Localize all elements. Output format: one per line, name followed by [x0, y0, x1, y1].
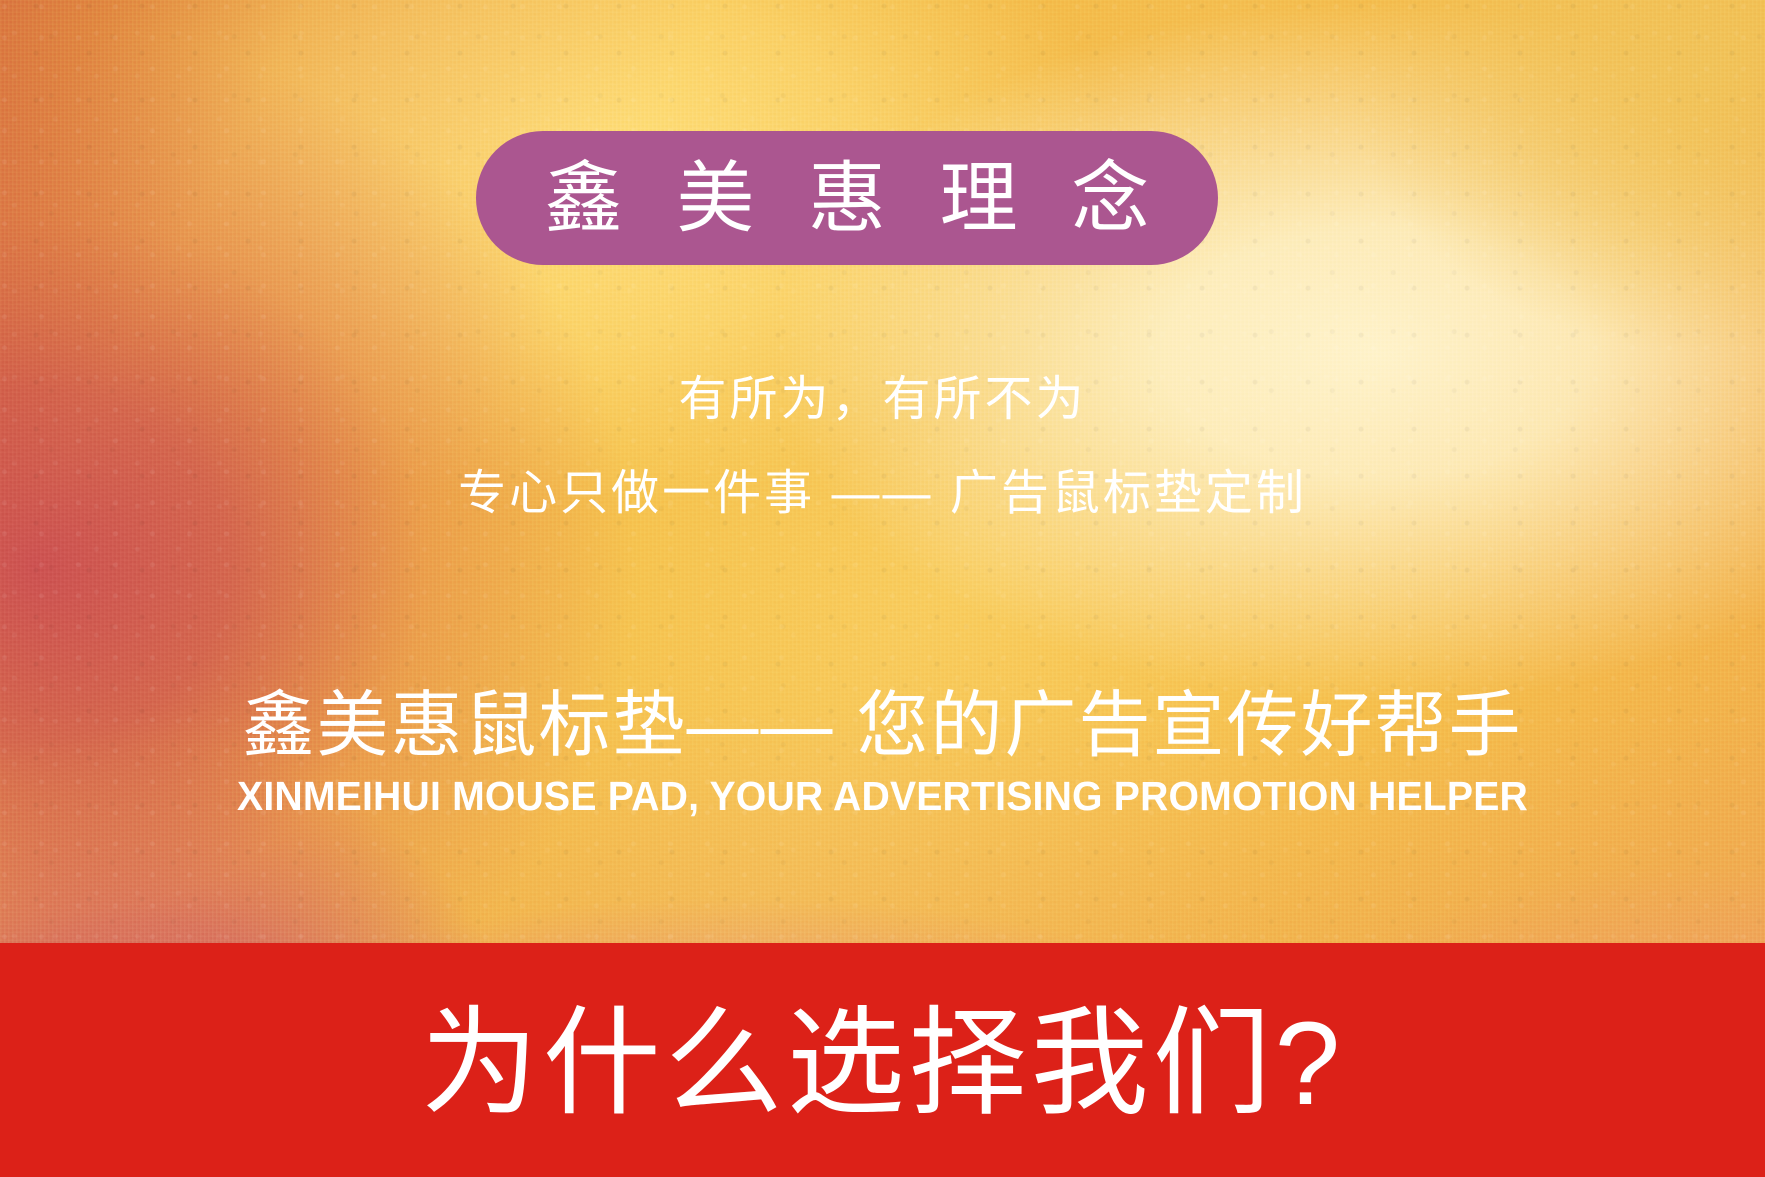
headline-block: 鑫美惠鼠标垫—— 您的广告宣传好帮手 XINMEIHUI MOUSE PAD, …: [0, 688, 1765, 819]
why-choose-us-banner: 为什么选择我们?: [0, 943, 1765, 1177]
poster-canvas: 鑫 美 惠 理 念 有所为，有所不为 专心只做一件事 —— 广告鼠标垫定制 鑫美…: [0, 0, 1765, 1177]
slogan-line-1: 有所为，有所不为: [0, 370, 1765, 430]
poster-content: 鑫 美 惠 理 念 有所为，有所不为 专心只做一件事 —— 广告鼠标垫定制 鑫美…: [0, 0, 1765, 1177]
slogan-block: 有所为，有所不为 专心只做一件事 —— 广告鼠标垫定制: [0, 370, 1765, 524]
slogan-line-2: 专心只做一件事 —— 广告鼠标垫定制: [0, 464, 1765, 524]
concept-badge-label: 鑫 美 惠 理 念: [529, 159, 1166, 237]
why-choose-us-label: 为什么选择我们?: [421, 1005, 1345, 1123]
concept-badge: 鑫 美 惠 理 念: [476, 131, 1218, 265]
headline-english: XINMEIHUI MOUSE PAD, YOUR ADVERTISING PR…: [40, 774, 1726, 819]
headline-chinese: 鑫美惠鼠标垫—— 您的广告宣传好帮手: [0, 688, 1765, 766]
